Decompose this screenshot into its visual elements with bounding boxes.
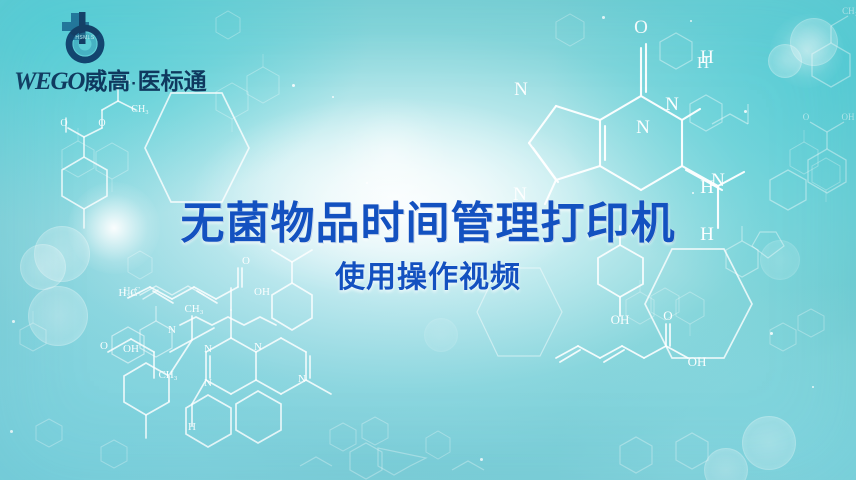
title-block: 无菌物品时间管理打印机 使用操作视频 — [0, 196, 856, 298]
wordmark-cjk-2: 医标通 — [138, 69, 207, 95]
logo-mark-inner-text: HSMLS — [75, 35, 94, 41]
page-subtitle: 使用操作视频 — [0, 258, 856, 298]
brand-wordmark: WEGO威高·医标通 — [14, 66, 194, 96]
wordmark-cjk-1: 威高 — [84, 69, 130, 95]
video-title-card: O N H H H N N N N H — [0, 0, 856, 480]
wordmark-separator: · — [130, 74, 137, 93]
brand-logo[interactable]: HSMLS WEGO威高·医标通 — [14, 10, 194, 96]
wordmark-latin: WEGO — [14, 68, 84, 95]
page-title: 无菌物品时间管理打印机 — [0, 196, 856, 252]
wego-b-cross-logo-icon: HSMLS — [58, 10, 110, 64]
